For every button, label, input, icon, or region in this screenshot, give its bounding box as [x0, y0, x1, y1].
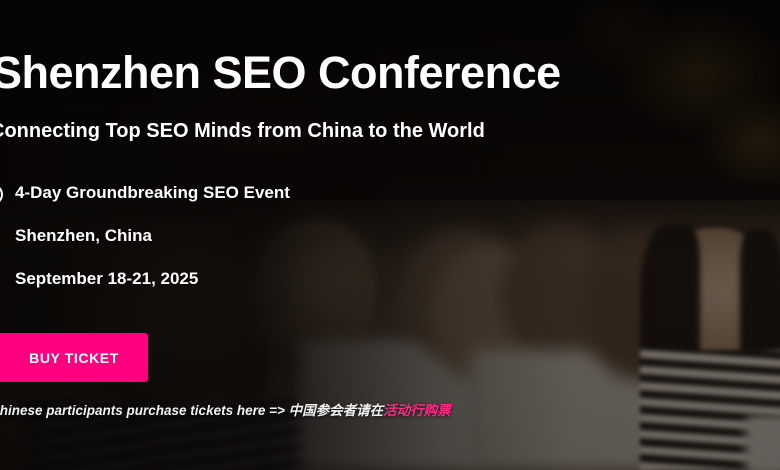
fact-label: Shenzhen, China [15, 226, 152, 246]
map-pin-icon [0, 226, 13, 246]
buy-ticket-button[interactable]: BUY TICKET [0, 333, 148, 382]
hero-banner: Shenzhen SEO Conference Connecting Top S… [0, 0, 780, 470]
page-title: Shenzhen SEO Conference [0, 47, 612, 99]
huodongxing-link[interactable]: 活动行购票 [383, 403, 451, 418]
note-prefix: Chinese participants purchase tickets he… [0, 403, 383, 418]
fact-label: September 18-21, 2025 [15, 269, 198, 289]
buy-ticket-label: BUY TICKET [0, 350, 119, 366]
list-item: Shenzhen, China [0, 223, 451, 249]
chinese-ticket-note: Chinese participants purchase tickets he… [0, 399, 750, 419]
clock-icon [0, 183, 13, 203]
hero-fact-list: 4-Day Groundbreaking SEO Event Shenzhen,… [0, 180, 451, 309]
list-item: September 18-21, 2025 [0, 266, 451, 292]
list-item: 4-Day Groundbreaking SEO Event [0, 180, 451, 206]
calendar-icon [0, 269, 13, 289]
fact-label: 4-Day Groundbreaking SEO Event [15, 183, 290, 203]
hero-content: Shenzhen SEO Conference Connecting Top S… [0, 0, 780, 470]
hero-subtitle: Connecting Top SEO Minds from China to t… [0, 118, 610, 144]
